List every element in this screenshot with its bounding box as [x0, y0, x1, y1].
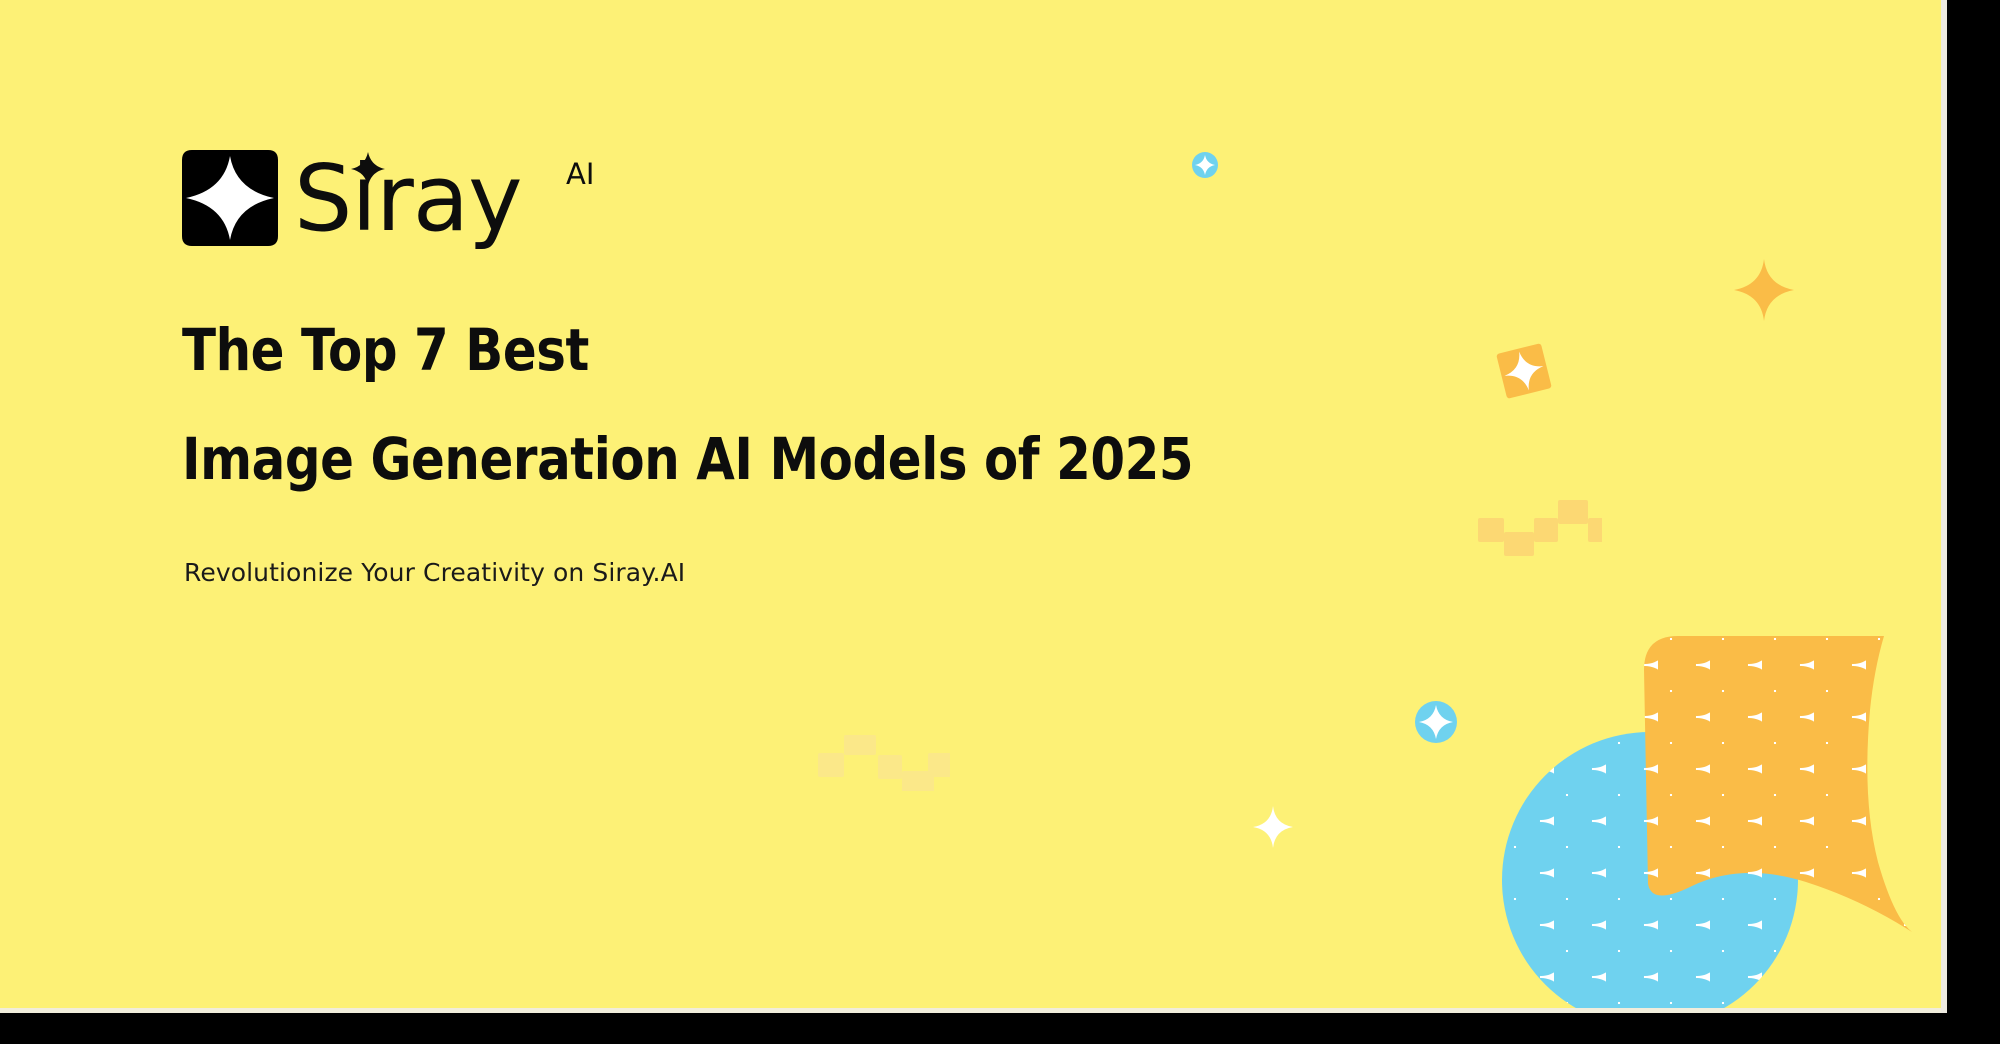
headline-line-1: The Top 7 Best: [182, 316, 589, 384]
slide-right-edge: [1941, 0, 1947, 1013]
pixel-staircase-icon: [1478, 500, 1602, 560]
dotted-shapes-cluster: [1502, 600, 1932, 1013]
brand-wordmark: Siray AI: [294, 146, 624, 256]
subheadline: Revolutionize Your Creativity on Siray.A…: [184, 558, 685, 587]
headline-line-2: Image Generation AI Models of 2025: [182, 425, 1193, 493]
slide-bottom-edge: [0, 1008, 1947, 1013]
slide-canvas: Siray AI The Top 7 Best Image Generation…: [0, 0, 1947, 1013]
rotated-square-star-icon: [1493, 340, 1555, 406]
brand-name-text: Siray: [294, 146, 522, 252]
four-point-star-logo-icon: [178, 146, 282, 250]
sparkle-badge-icon: [1415, 701, 1457, 747]
sparkle-badge-icon: [1192, 152, 1218, 182]
brand-suffix-text: AI: [566, 157, 594, 191]
dotted-circle-shape: [1502, 732, 1802, 1010]
brand-logo[interactable]: Siray AI: [178, 146, 624, 256]
pixel-staircase-icon: [818, 735, 950, 795]
four-point-star-icon: [1252, 805, 1294, 853]
four-point-star-icon: [1733, 258, 1795, 326]
dotted-flag-shape: [1632, 624, 1932, 944]
